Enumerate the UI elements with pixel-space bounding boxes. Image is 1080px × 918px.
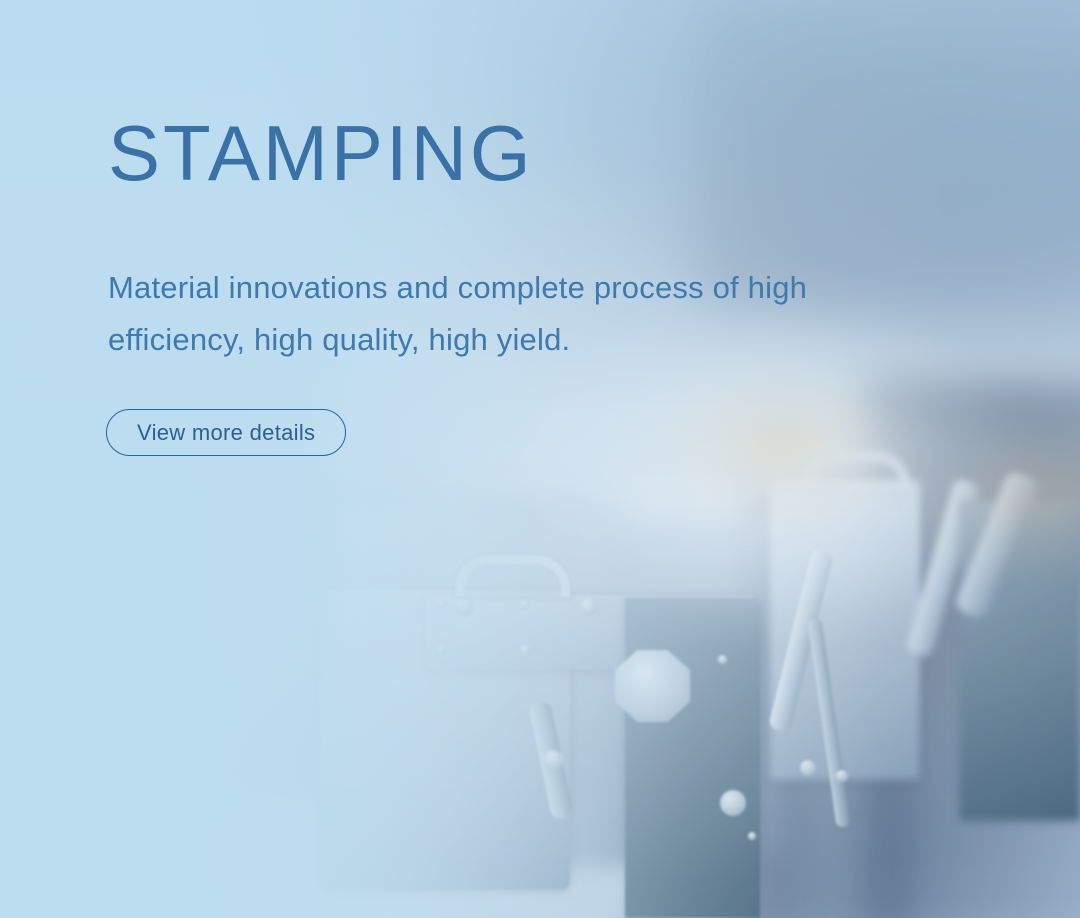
hero-content: STAMPING Material innovations and comple… <box>106 0 926 918</box>
hero-subtitle: Material innovations and complete proces… <box>108 262 898 366</box>
page-title: STAMPING <box>108 114 534 192</box>
hero-banner: STAMPING Material innovations and comple… <box>0 0 1080 918</box>
view-more-details-button[interactable]: View more details <box>106 409 346 456</box>
